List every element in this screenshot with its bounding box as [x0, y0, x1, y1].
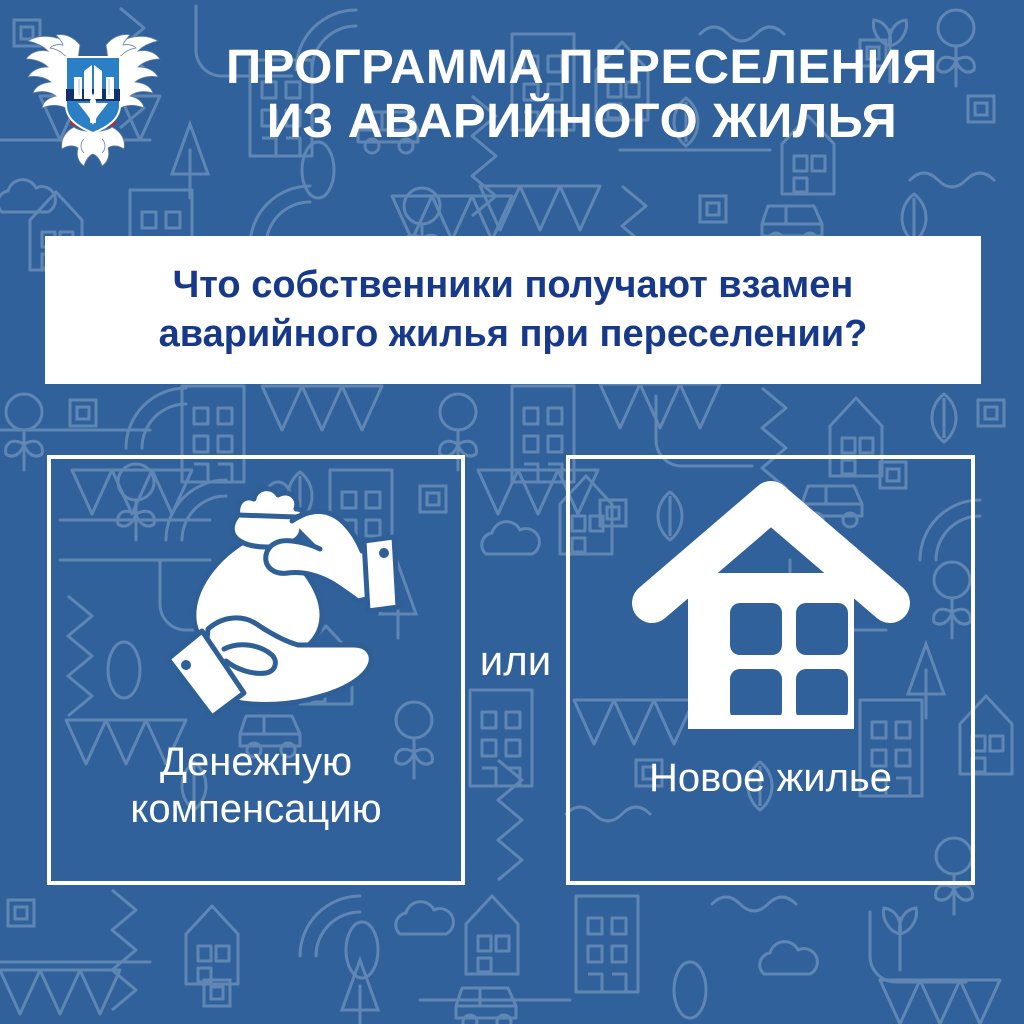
- infographic-poster: ПРОГРАММА ПЕРЕСЕЛЕНИЯ ИЗ АВАРИЙНОГО ЖИЛЬ…: [0, 0, 1024, 1024]
- question-line-2: аварийного жилья при переселении?: [159, 310, 868, 359]
- house-icon: [626, 479, 916, 729]
- title-line-1: ПРОГРАММА ПЕРЕСЕЛЕНИЯ: [160, 41, 1005, 95]
- house-label-line-1: Новое жилье: [649, 755, 892, 802]
- money-label-line-2: компенсацию: [130, 786, 381, 833]
- option-card-house[interactable]: Новое жилье: [566, 455, 975, 885]
- poster-header: ПРОГРАММА ПЕРЕСЕЛЕНИЯ ИЗ АВАРИЙНОГО ЖИЛЬ…: [0, 0, 1024, 190]
- option-card-house-label: Новое жилье: [639, 755, 902, 802]
- question-line-1: Что собственники получают взамен: [173, 261, 854, 310]
- double-headed-eagle-emblem: [18, 15, 168, 175]
- hands-holding-money-bag-icon: [106, 479, 406, 729]
- option-card-money[interactable]: Денежную компенсацию: [47, 455, 465, 885]
- question-banner: Что собственники получают взамен аварийн…: [45, 236, 981, 384]
- money-label-line-1: Денежную: [130, 739, 381, 786]
- option-card-money-label: Денежную компенсацию: [120, 739, 391, 833]
- title-line-2: ИЗ АВАРИЙНОГО ЖИЛЬЯ: [160, 95, 1005, 149]
- or-connector-label: или: [465, 640, 566, 682]
- poster-title: ПРОГРАММА ПЕРЕСЕЛЕНИЯ ИЗ АВАРИЙНОГО ЖИЛЬ…: [168, 41, 1024, 149]
